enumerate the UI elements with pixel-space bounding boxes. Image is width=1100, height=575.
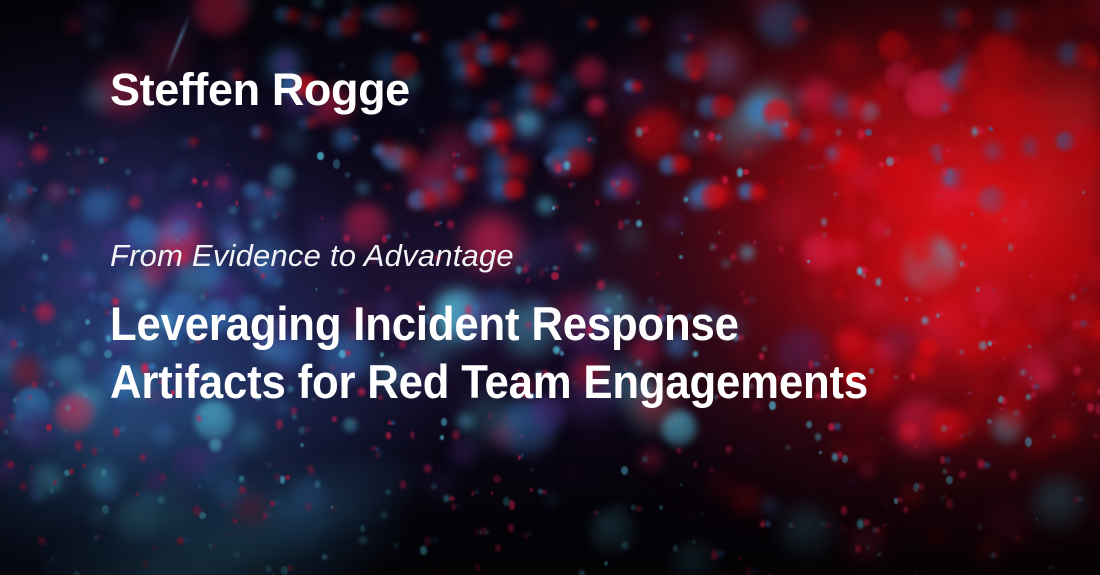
slide-title-line-1: Leveraging Incident Response bbox=[110, 295, 868, 353]
slide-text-block: Steffen Rogge From Evidence to Advantage… bbox=[0, 0, 1100, 575]
slide-title: Leveraging Incident Response Artifacts f… bbox=[110, 295, 868, 411]
title-slide: Steffen Rogge From Evidence to Advantage… bbox=[0, 0, 1100, 575]
slide-title-line-2: Artifacts for Red Team Engagements bbox=[110, 353, 868, 411]
speaker-name: Steffen Rogge bbox=[110, 66, 410, 113]
slide-subtitle: From Evidence to Advantage bbox=[110, 239, 514, 273]
